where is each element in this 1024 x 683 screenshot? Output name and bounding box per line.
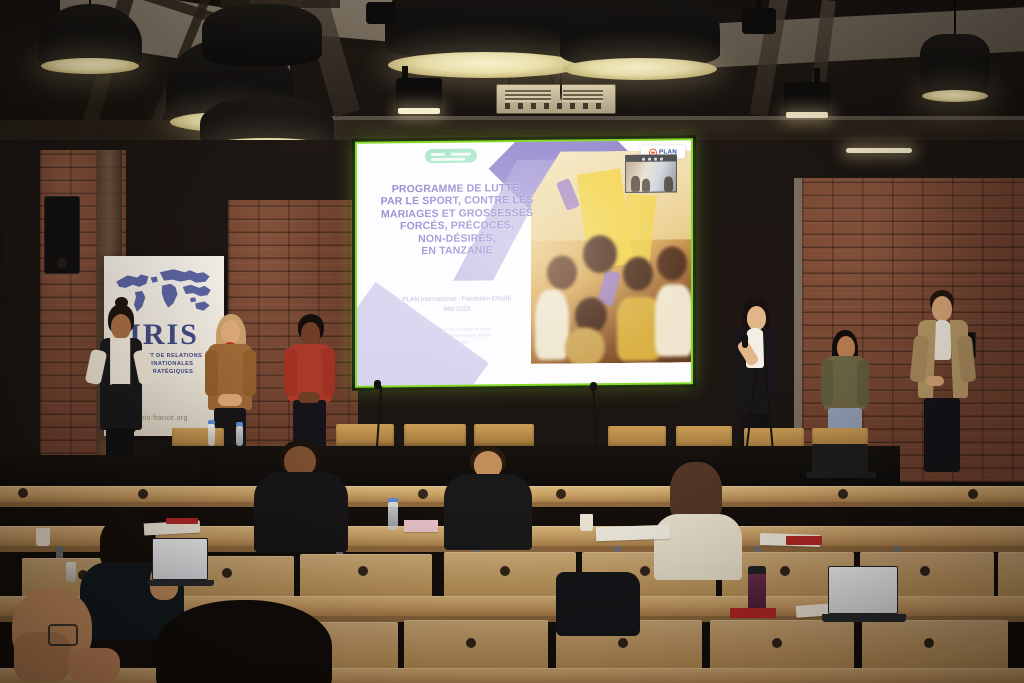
wooden-chair [474, 424, 534, 446]
wall-speaker [44, 196, 80, 274]
red-notebook [166, 518, 198, 524]
pendant-lamp [880, 0, 1024, 136]
dark-jacket-on-seat [556, 572, 640, 636]
strip-light [846, 148, 912, 153]
slide-credit: Présentation des résultats du projet de … [371, 326, 543, 347]
wooden-chair [172, 428, 224, 448]
attendee-cream-coat [648, 462, 748, 580]
attendee-foreground-curly [156, 600, 332, 683]
microphone-head [374, 380, 381, 389]
paper-cup [36, 528, 50, 546]
printed-papers [596, 525, 670, 542]
handheld-microphone [742, 334, 748, 348]
eyeglasses [48, 624, 78, 646]
photograph-scene: PLAN PROGRAMME DE LUTTE, PAR LE SPORT, C… [0, 0, 1024, 683]
microphone-head [590, 382, 597, 391]
red-notebook [730, 608, 776, 618]
water-bottle [236, 426, 243, 446]
water-bottle-desk [388, 502, 398, 530]
projection-screen: PLAN PROGRAMME DE LUTTE, PAR LE SPORT, C… [352, 135, 696, 391]
slide-subtitle: PLAN International - Fondation ENGIE Mai… [367, 294, 547, 315]
purple-thermos [748, 572, 766, 612]
wooden-chair [676, 426, 732, 448]
water-bottle-desk [66, 562, 76, 582]
attendee-dark-top-right [436, 446, 540, 550]
wooden-chair [608, 426, 666, 448]
pendant-lamp [192, 4, 332, 74]
attendee-foreground-bald [0, 588, 160, 683]
red-notebook [786, 536, 822, 545]
water-bottle [208, 424, 215, 446]
speaker-right-3 [902, 292, 978, 472]
paper-cup [580, 514, 593, 531]
pink-item [404, 520, 438, 532]
presentation-slide: PLAN PROGRAMME DE LUTTE, PAR LE SPORT, C… [357, 140, 691, 385]
video-conference-thumbnail [625, 154, 677, 193]
attendee-dark-suit [244, 440, 358, 550]
pendant-lamp [540, 0, 740, 136]
pendant-lamp [30, 0, 150, 110]
slide-pill-shape [425, 148, 477, 163]
slide-title: PROGRAMME DE LUTTE, PAR LE SPORT, CONTRE… [367, 182, 547, 258]
presenter-laptop [812, 444, 868, 474]
wooden-chair [404, 424, 466, 446]
